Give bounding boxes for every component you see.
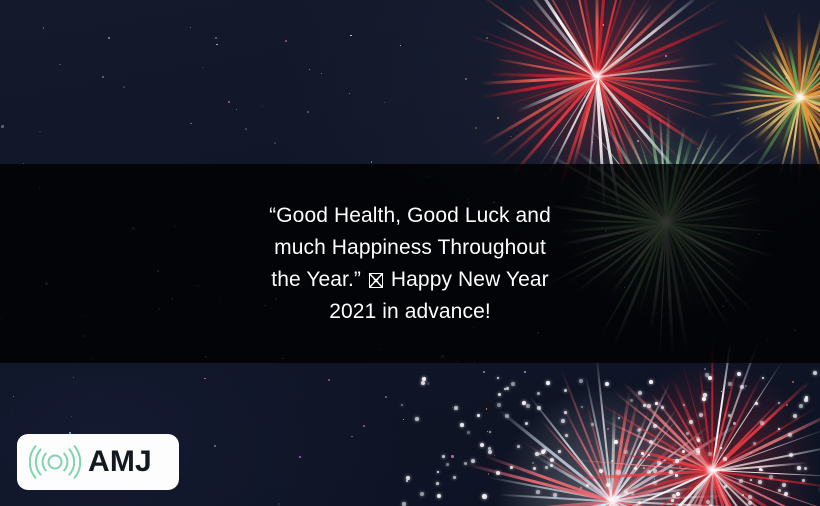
quote-line-3: the Year.”: [271, 268, 361, 291]
quote-line-1: “Good Health, Good Luck and: [269, 204, 551, 227]
quote-line-2: much Happiness Throughout: [274, 236, 546, 259]
fireworks-greeting-image: “Good Health, Good Luck andmuch Happines…: [0, 0, 820, 506]
greeting-quote: “Good Health, Good Luck andmuch Happines…: [260, 200, 560, 328]
missing-glyph-icon: [369, 273, 383, 288]
quote-overlay-band: “Good Health, Good Luck andmuch Happines…: [0, 164, 820, 363]
broadcast-signal-icon: [29, 444, 81, 480]
quote-line-4: Happy New Year: [391, 268, 549, 291]
logo-wordmark: AMJ: [88, 447, 152, 477]
amj-logo-badge[interactable]: AMJ: [17, 434, 179, 490]
quote-line-5: 2021 in advance!: [329, 300, 491, 323]
